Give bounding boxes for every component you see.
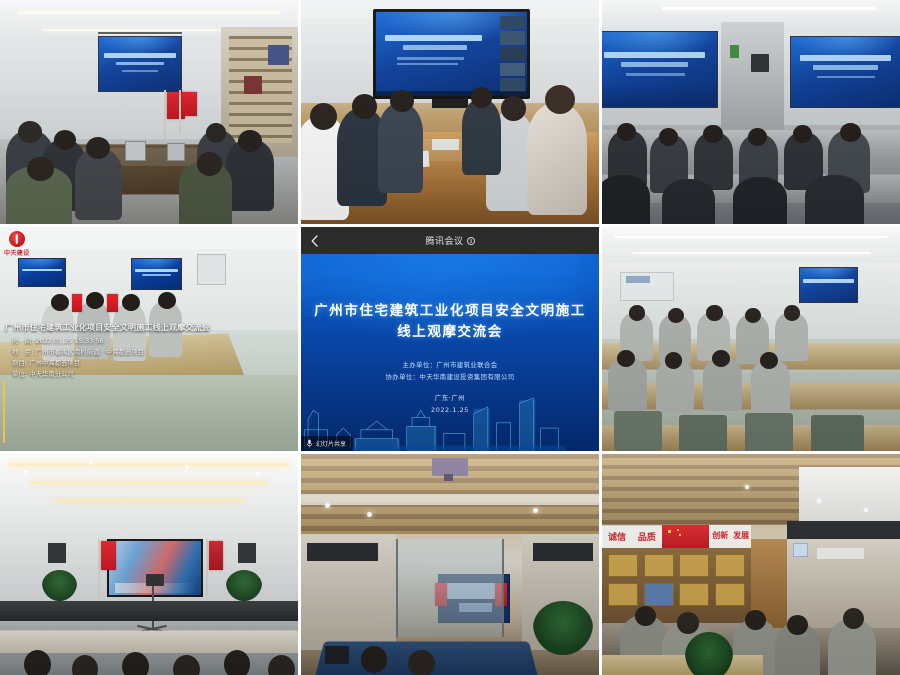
meeting-top-bar: 腾讯会议 bbox=[301, 227, 599, 254]
tencent-meeting-window: 腾讯会议 广州市住宅建筑工业化项目安全文明施工 线上观摩交流会 主办单位：广州市… bbox=[301, 227, 599, 451]
photo-site-office-rows-of-desks bbox=[602, 227, 900, 451]
photo-meeting-room-projector-long-table bbox=[0, 0, 298, 224]
collage-tile-5[interactable]: 腾讯会议 广州市住宅建筑工业化项目安全文明施工 线上观摩交流会 主办单位：广州市… bbox=[301, 227, 599, 451]
collage-tile-3[interactable] bbox=[602, 0, 900, 224]
collage-tile-7[interactable] bbox=[0, 454, 298, 675]
slide-title: 广州市住宅建筑工业化项目安全文明施工 线上观摩交流会 bbox=[313, 301, 587, 343]
slide-organisers: 主办单位：广州市建筑业联合会 协办单位：中天华南建设投资集团有限公司 bbox=[331, 360, 569, 384]
caption-accent-rule bbox=[3, 381, 5, 443]
shared-slide-stage: 广州市住宅建筑工业化项目安全文明施工 线上观摩交流会 主办单位：广州市建筑业联合… bbox=[301, 254, 599, 451]
photo-collage-grid: 中天建设 广州市住宅建筑工业化项目安全文明施工线上观摩交流会 时 间: 2022… bbox=[0, 0, 900, 675]
company-logo-text: 中天建设 bbox=[4, 248, 30, 257]
collage-tile-6[interactable] bbox=[602, 227, 900, 451]
slide-host: 主办单位：广州市建筑业联合会 bbox=[331, 360, 569, 372]
microphone-icon bbox=[306, 439, 313, 448]
collage-tile-4[interactable]: 中天建设 广州市住宅建筑工业化项目安全文明施工线上观摩交流会 时 间: 2022… bbox=[0, 227, 298, 451]
collage-tile-8[interactable] bbox=[301, 454, 599, 675]
chevron-left-icon[interactable] bbox=[309, 235, 321, 247]
meeting-title: 腾讯会议 bbox=[425, 234, 474, 247]
screen-share-status-bar: 幻灯片共享 bbox=[301, 436, 353, 451]
collage-tile-2[interactable] bbox=[301, 0, 599, 224]
photo-boardroom-wood-ceiling-projector bbox=[301, 454, 599, 675]
info-icon[interactable] bbox=[467, 237, 475, 245]
collage-tile-1[interactable] bbox=[0, 0, 298, 224]
caption-overlay: 广州市住宅建筑工业化项目安全文明施工线上观摩交流会 时 间: 2022.01.2… bbox=[0, 317, 298, 451]
photo-meeting-room-dual-led-screens bbox=[602, 0, 900, 224]
company-logo: 中天建设 bbox=[4, 231, 30, 257]
collage-tile-9[interactable]: 诚信 品质 创新 发展 bbox=[602, 454, 900, 675]
caption-title: 广州市住宅建筑工业化项目安全文明施工线上观摩交流会 bbox=[5, 323, 292, 334]
company-logo-mark bbox=[9, 231, 25, 247]
photo-meeting-room-large-display-wood-table bbox=[301, 0, 599, 224]
slide-title-line-1: 广州市住宅建筑工业化项目安全文明施工 bbox=[313, 301, 587, 322]
meeting-app-name: 腾讯会议 bbox=[425, 234, 463, 247]
photo-conference-hall-flags-led-wall bbox=[0, 454, 298, 675]
slide-cohost: 协办单位：中天华南建设投资集团有限公司 bbox=[331, 372, 569, 384]
screen-share-status-text: 幻灯片共享 bbox=[316, 439, 346, 448]
photo-site-classroom-with-caption-overlay: 中天建设 广州市住宅建筑工业化项目安全文明施工线上观摩交流会 时 间: 2022… bbox=[0, 227, 298, 451]
photo-site-hall-honor-wall: 诚信 品质 创新 发展 bbox=[602, 454, 900, 675]
slide-title-line-2: 线上观摩交流会 bbox=[313, 322, 587, 343]
caption-row-unit: 单位: 中天华南分公司 bbox=[12, 371, 292, 380]
caption-row-place: 地 点: 广州市番禺区南村街道 · 中海都荟项目 bbox=[12, 349, 292, 358]
caption-row-project: 项目: 广州中海都荟项目 bbox=[12, 360, 292, 369]
caption-row-time: 时 间: 2022.01.25 15:33:56 bbox=[12, 338, 292, 347]
